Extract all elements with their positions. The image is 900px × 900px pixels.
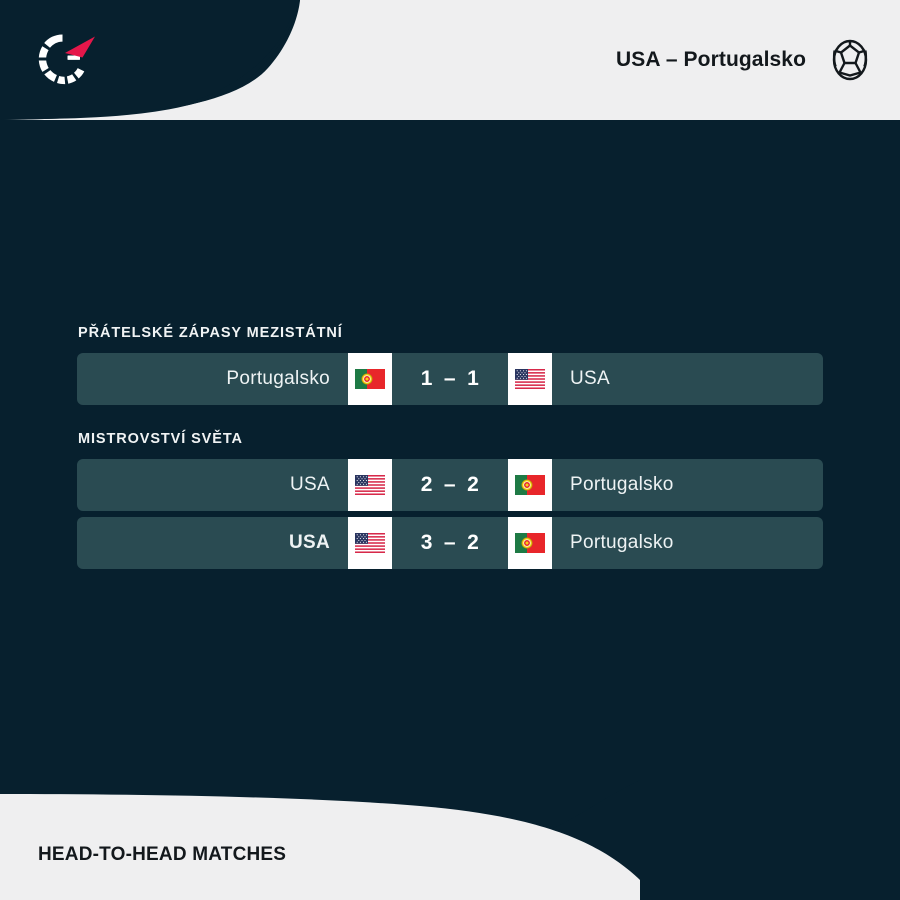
section-title: MISTROVSTVÍ SVĚTA	[78, 431, 823, 447]
section-world-cup: MISTROVSTVÍ SVĚTA USA	[77, 431, 823, 575]
away-score: 1	[467, 367, 479, 391]
soccer-ball-icon	[828, 38, 872, 82]
away-team-name: Portugalsko	[552, 517, 823, 569]
table-row[interactable]: Portugalsko 1 – 1	[77, 353, 823, 405]
flashscore-logo-icon[interactable]	[32, 26, 98, 92]
match-score: 2 – 2	[392, 459, 508, 511]
head-to-head-card: USA – Portugalsko PŘÁTELSK	[0, 0, 900, 900]
portugal-flag-icon	[348, 353, 392, 405]
home-score: 1	[421, 367, 433, 391]
away-team-name: USA	[552, 353, 823, 405]
away-score: 2	[467, 473, 479, 497]
section-title: PŘÁTELSKÉ ZÁPASY MEZISTÁTNÍ	[78, 325, 823, 341]
usa-flag-icon	[348, 517, 392, 569]
away-team-name: Portugalsko	[552, 459, 823, 511]
match-score: 1 – 1	[392, 353, 508, 405]
home-score: 2	[421, 473, 433, 497]
usa-flag-icon	[348, 459, 392, 511]
table-row[interactable]: USA	[77, 459, 823, 511]
portugal-flag-icon	[508, 459, 552, 511]
portugal-flag-icon	[508, 517, 552, 569]
main-content: PŘÁTELSKÉ ZÁPASY MEZISTÁTNÍ Portugalsko …	[0, 120, 900, 780]
home-team-name: USA	[77, 459, 348, 511]
home-team-name: Portugalsko	[77, 353, 348, 405]
table-row[interactable]: USA	[77, 517, 823, 569]
score-separator: –	[444, 473, 456, 497]
page-title: USA – Portugalsko	[616, 48, 806, 72]
score-separator: –	[444, 367, 456, 391]
header-bar: USA – Portugalsko	[0, 0, 900, 120]
footer-curve-shape	[0, 780, 900, 900]
home-team-name: USA	[77, 517, 348, 569]
section-friendlies: PŘÁTELSKÉ ZÁPASY MEZISTÁTNÍ Portugalsko …	[77, 325, 823, 411]
header-right-group: USA – Portugalsko	[616, 0, 872, 120]
home-score: 3	[421, 531, 433, 555]
match-score: 3 – 2	[392, 517, 508, 569]
footer-bar: HEAD-TO-HEAD MATCHES	[0, 780, 900, 900]
score-separator: –	[444, 531, 456, 555]
usa-flag-icon	[508, 353, 552, 405]
away-score: 2	[467, 531, 479, 555]
footer-title: HEAD-TO-HEAD MATCHES	[38, 844, 286, 866]
